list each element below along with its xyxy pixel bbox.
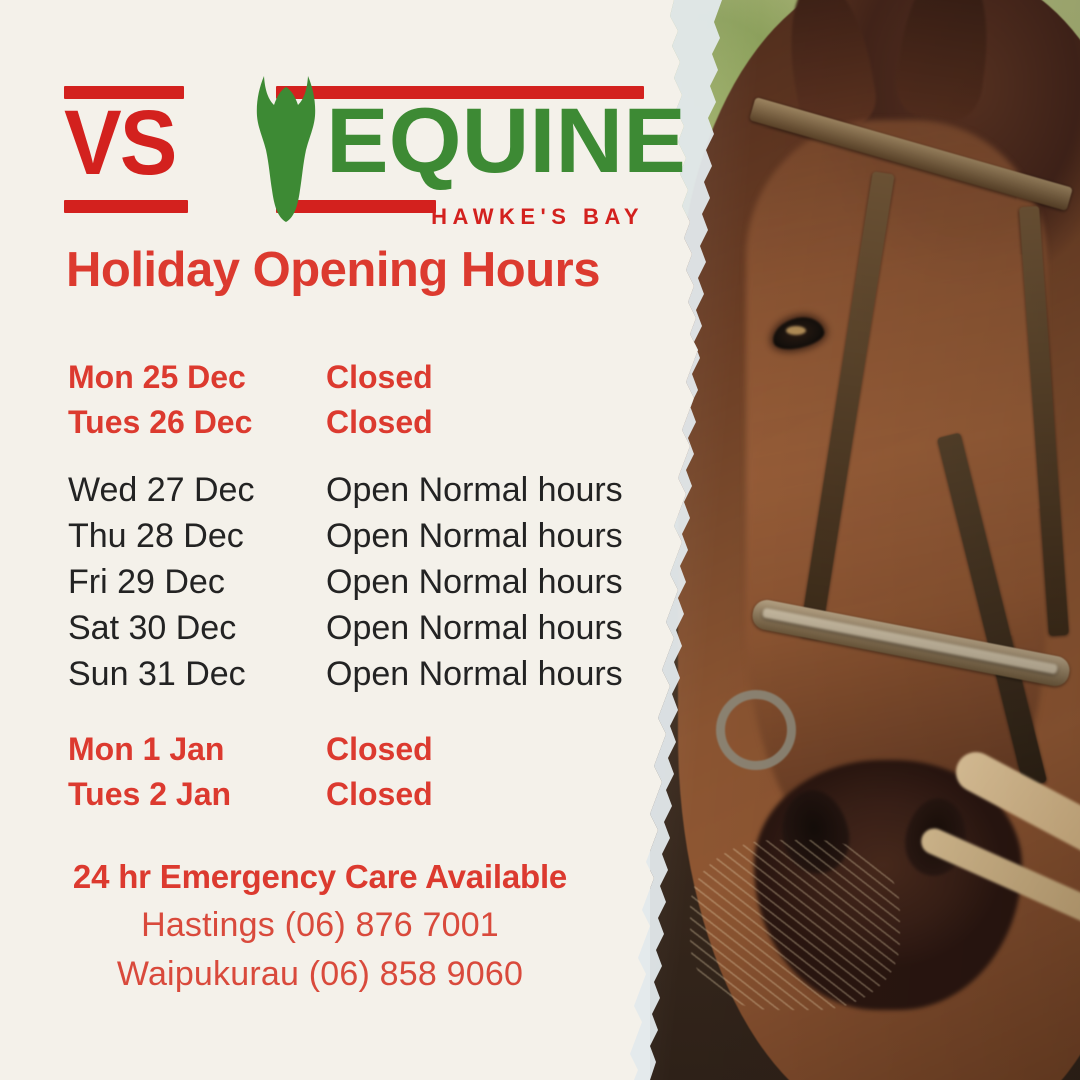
schedule-table: Mon 25 Dec Closed Tues 26 Dec Closed Wed… (68, 355, 648, 817)
photo-shading-overlay (650, 0, 1080, 1080)
schedule-status: Open Normal hours (326, 559, 623, 605)
table-row: Wed 27 Dec Open Normal hours (68, 467, 648, 513)
schedule-day: Sun 31 Dec (68, 651, 326, 697)
poster-content: VS EQUINE HAWKE'S BAY Holiday Opening Ho… (0, 0, 660, 1080)
logo-rule-bottom-left (64, 200, 188, 213)
table-row: Fri 29 Dec Open Normal hours (68, 559, 648, 605)
schedule-day: Sat 30 Dec (68, 605, 326, 651)
schedule-day: Fri 29 Dec (68, 559, 326, 605)
page-title: Holiday Opening Hours (66, 242, 600, 298)
table-row: Sun 31 Dec Open Normal hours (68, 651, 648, 697)
table-row: Mon 1 Jan Closed (68, 727, 648, 772)
schedule-status: Closed (326, 727, 433, 772)
table-row: Thu 28 Dec Open Normal hours (68, 513, 648, 559)
schedule-status: Closed (326, 400, 433, 445)
schedule-day: Wed 27 Dec (68, 467, 326, 513)
brand-logo: VS EQUINE HAWKE'S BAY (64, 78, 644, 228)
table-row: Tues 26 Dec Closed (68, 400, 648, 445)
schedule-day: Tues 26 Dec (68, 400, 326, 445)
schedule-status: Open Normal hours (326, 467, 623, 513)
phone-waipukurau[interactable]: Waipukurau (06) 858 9060 (0, 955, 640, 994)
schedule-day: Tues 2 Jan (68, 772, 326, 817)
schedule-day: Mon 25 Dec (68, 355, 326, 400)
phone-hastings[interactable]: Hastings (06) 876 7001 (0, 906, 640, 945)
schedule-group-closed-jan: Mon 1 Jan Closed Tues 2 Jan Closed (68, 727, 648, 817)
schedule-group-closed-dec: Mon 25 Dec Closed Tues 26 Dec Closed (68, 355, 648, 445)
horse-photo (650, 0, 1080, 1080)
poster-canvas: VS EQUINE HAWKE'S BAY Holiday Opening Ho… (0, 0, 1080, 1080)
schedule-status: Open Normal hours (326, 651, 623, 697)
logo-text-region: HAWKE'S BAY (426, 204, 644, 230)
emergency-care-text: 24 hr Emergency Care Available (0, 858, 640, 896)
schedule-day: Thu 28 Dec (68, 513, 326, 559)
table-row: Sat 30 Dec Open Normal hours (68, 605, 648, 651)
schedule-status: Closed (326, 772, 433, 817)
logo-text-vs: VS (64, 100, 176, 187)
table-row: Mon 25 Dec Closed (68, 355, 648, 400)
schedule-day: Mon 1 Jan (68, 727, 326, 772)
schedule-status: Open Normal hours (326, 513, 623, 559)
horse-head-icon (250, 72, 322, 232)
logo-text-equine: EQUINE (326, 98, 686, 185)
schedule-group-open-dec: Wed 27 Dec Open Normal hours Thu 28 Dec … (68, 467, 648, 697)
table-row: Tues 2 Jan Closed (68, 772, 648, 817)
schedule-status: Closed (326, 355, 433, 400)
photo-background (650, 0, 1080, 1080)
footer-contact: 24 hr Emergency Care Available Hastings … (0, 858, 640, 994)
schedule-status: Open Normal hours (326, 605, 623, 651)
